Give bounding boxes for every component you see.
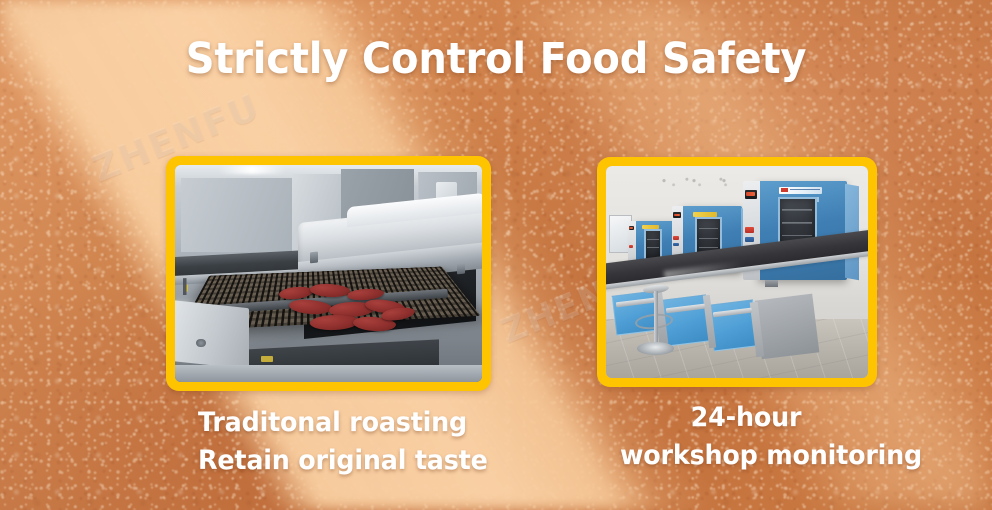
promotional-banner: ZHENFU ZHENFU ZHENFU Strictly Control Fo… (0, 0, 992, 510)
photo-oven-shelf (782, 235, 812, 237)
photo-oven-shelf (782, 222, 812, 224)
photo-steel-housing (175, 300, 249, 369)
photo-oven-button (673, 236, 679, 240)
photo-oven-button (629, 245, 633, 248)
photo-oven-shelf (647, 247, 659, 248)
photo-oven-shelf (699, 238, 718, 239)
photo-wall-panel (181, 178, 293, 252)
photo-oven-shelf (699, 247, 718, 248)
photo-lab-stool-base (637, 342, 674, 355)
photo-oven-foot (765, 280, 777, 287)
caption-line: Retain original taste (198, 445, 488, 476)
photo-oven-button (745, 227, 754, 233)
photo-foreground-edge (175, 365, 482, 382)
photo-oven-button (673, 243, 679, 246)
photo-cabinet-recess (755, 294, 819, 360)
photo-oven-shelf (647, 239, 659, 240)
caption-monitoring: 24-hour workshop monitoring (620, 399, 872, 476)
photo-wall-marks (658, 174, 750, 195)
photo-ceiling-light (218, 165, 286, 174)
photo-machine-tag (261, 356, 273, 363)
photo-oven-label (779, 187, 822, 194)
banner-title: Strictly Control Food Safety (35, 38, 958, 81)
photo-oven-display (673, 212, 681, 218)
photo-oven-display (629, 226, 635, 231)
photo-oven-shelf (782, 209, 812, 211)
caption-roasting: Traditonal roasting Retain original tast… (198, 404, 488, 481)
caption-line: 24-hour (620, 399, 872, 437)
photo-lab-stool-post (654, 291, 658, 346)
photo-oven-shelf (699, 228, 718, 229)
photo-roasting-tunnel (175, 165, 482, 382)
photo-oven-display (745, 190, 757, 199)
photo-card-roasting (166, 156, 491, 391)
photo-hood-latch (310, 251, 318, 263)
caption-line: Traditonal roasting (198, 407, 467, 438)
photo-housing-knob (196, 339, 205, 348)
photo-laboratory (606, 166, 868, 378)
caption-line: workshop monitoring (620, 437, 872, 475)
photo-oven-button (745, 237, 754, 242)
photo-hood-latch (457, 262, 465, 274)
photo-card-monitoring (597, 157, 877, 387)
